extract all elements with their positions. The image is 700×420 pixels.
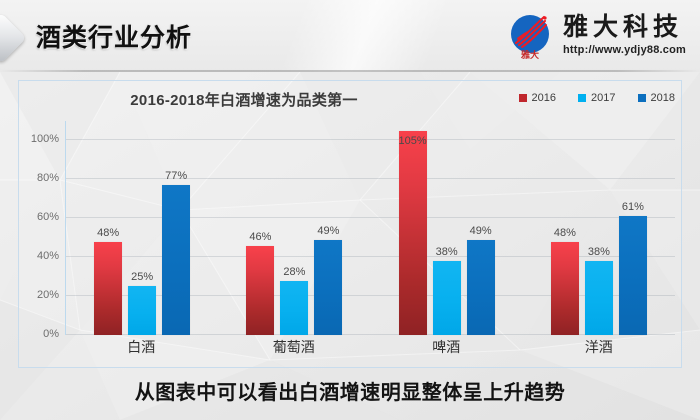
bar-group-啤酒: 105%38%49% (371, 121, 523, 335)
page-title: 酒类行业分析 (36, 18, 192, 54)
chart-caption: 从图表中可以看出白酒增速明显整体呈上升趋势 (0, 376, 700, 405)
legend-swatch-icon (638, 94, 646, 102)
legend-label: 2016 (532, 92, 556, 104)
bar[interactable]: 49% (314, 240, 342, 335)
y-axis-tick: 100% (31, 133, 59, 145)
bar-value-label: 48% (97, 227, 119, 239)
bar-value-label: 38% (588, 246, 610, 258)
bar-group-洋酒: 48%38%61% (523, 121, 675, 335)
bar[interactable]: 48% (94, 242, 122, 335)
bar[interactable]: 61% (619, 216, 647, 335)
brand-name: 雅大科技 (563, 15, 686, 40)
chart-legend: 201620172018 (519, 92, 675, 104)
bar[interactable]: 25% (128, 286, 156, 335)
y-axis-tick: 0% (43, 328, 59, 340)
bar[interactable]: 46% (246, 246, 274, 335)
chart-title: 2016-2018年白酒增速为品类第一 (19, 89, 469, 110)
bar-fill (162, 185, 190, 335)
bar-fill (94, 242, 122, 335)
bar-fill (128, 286, 156, 335)
legend-item-2016[interactable]: 2016 (519, 92, 556, 104)
bar[interactable]: 38% (433, 261, 461, 335)
bar[interactable]: 105% (399, 131, 427, 335)
y-axis-tick: 80% (37, 172, 59, 184)
bar[interactable]: 48% (551, 242, 579, 335)
x-axis-label: 葡萄酒 (218, 337, 371, 363)
brand-url[interactable]: http://www.ydjy88.com (563, 45, 686, 56)
bar[interactable]: 77% (162, 185, 190, 335)
legend-item-2017[interactable]: 2017 (578, 92, 615, 104)
bar[interactable]: 28% (280, 281, 308, 335)
legend-item-2018[interactable]: 2018 (638, 92, 675, 104)
bar-fill (585, 261, 613, 335)
legend-swatch-icon (578, 94, 586, 102)
bar-fill (433, 261, 461, 335)
x-axis-label: 洋酒 (523, 337, 676, 363)
bar-fill (280, 281, 308, 335)
bar-value-label: 48% (554, 227, 576, 239)
y-axis-tick: 20% (37, 289, 59, 301)
x-axis-labels: 白酒葡萄酒啤酒洋酒 (65, 337, 675, 363)
bar-value-label: 49% (317, 225, 339, 237)
x-axis-label: 啤酒 (370, 337, 523, 363)
bar[interactable]: 49% (467, 240, 495, 335)
bar-fill (399, 131, 427, 335)
bar-groups: 48%25%77%46%28%49%105%38%49%48%38%61% (66, 121, 675, 335)
bar[interactable]: 38% (585, 261, 613, 335)
brand-logo[interactable]: 雅大 雅大科技 http://www.ydjy88.com (504, 9, 686, 61)
chart-container: 2016-2018年白酒增速为品类第一 201620172018 0%20%40… (18, 80, 682, 368)
bar-fill (551, 242, 579, 335)
bar-fill (314, 240, 342, 335)
header-divider (0, 70, 700, 72)
bar-value-label: 49% (470, 225, 492, 237)
bar-group-白酒: 48%25%77% (66, 121, 218, 335)
bar-fill (619, 216, 647, 335)
legend-swatch-icon (519, 94, 527, 102)
bar-value-label: 25% (131, 271, 153, 283)
svg-text:雅大: 雅大 (520, 49, 539, 61)
yada-logo-icon: 雅大 (504, 9, 556, 61)
legend-label: 2017 (591, 92, 615, 104)
bar-value-label: 77% (165, 170, 187, 182)
y-axis-tick: 60% (37, 211, 59, 223)
bar-value-label: 61% (622, 201, 644, 213)
bar-value-label: 105% (399, 135, 427, 147)
bar-value-label: 38% (436, 246, 458, 258)
bar-value-label: 46% (249, 231, 271, 243)
bar-fill (246, 246, 274, 335)
x-axis-label: 白酒 (65, 337, 218, 363)
legend-label: 2018 (651, 92, 675, 104)
plot-area: 0%20%40%60%80%100% 48%25%77%46%28%49%105… (65, 121, 675, 335)
bar-group-葡萄酒: 46%28%49% (218, 121, 370, 335)
bar-value-label: 28% (283, 266, 305, 278)
bar-fill (467, 240, 495, 335)
y-axis-tick: 40% (37, 250, 59, 262)
